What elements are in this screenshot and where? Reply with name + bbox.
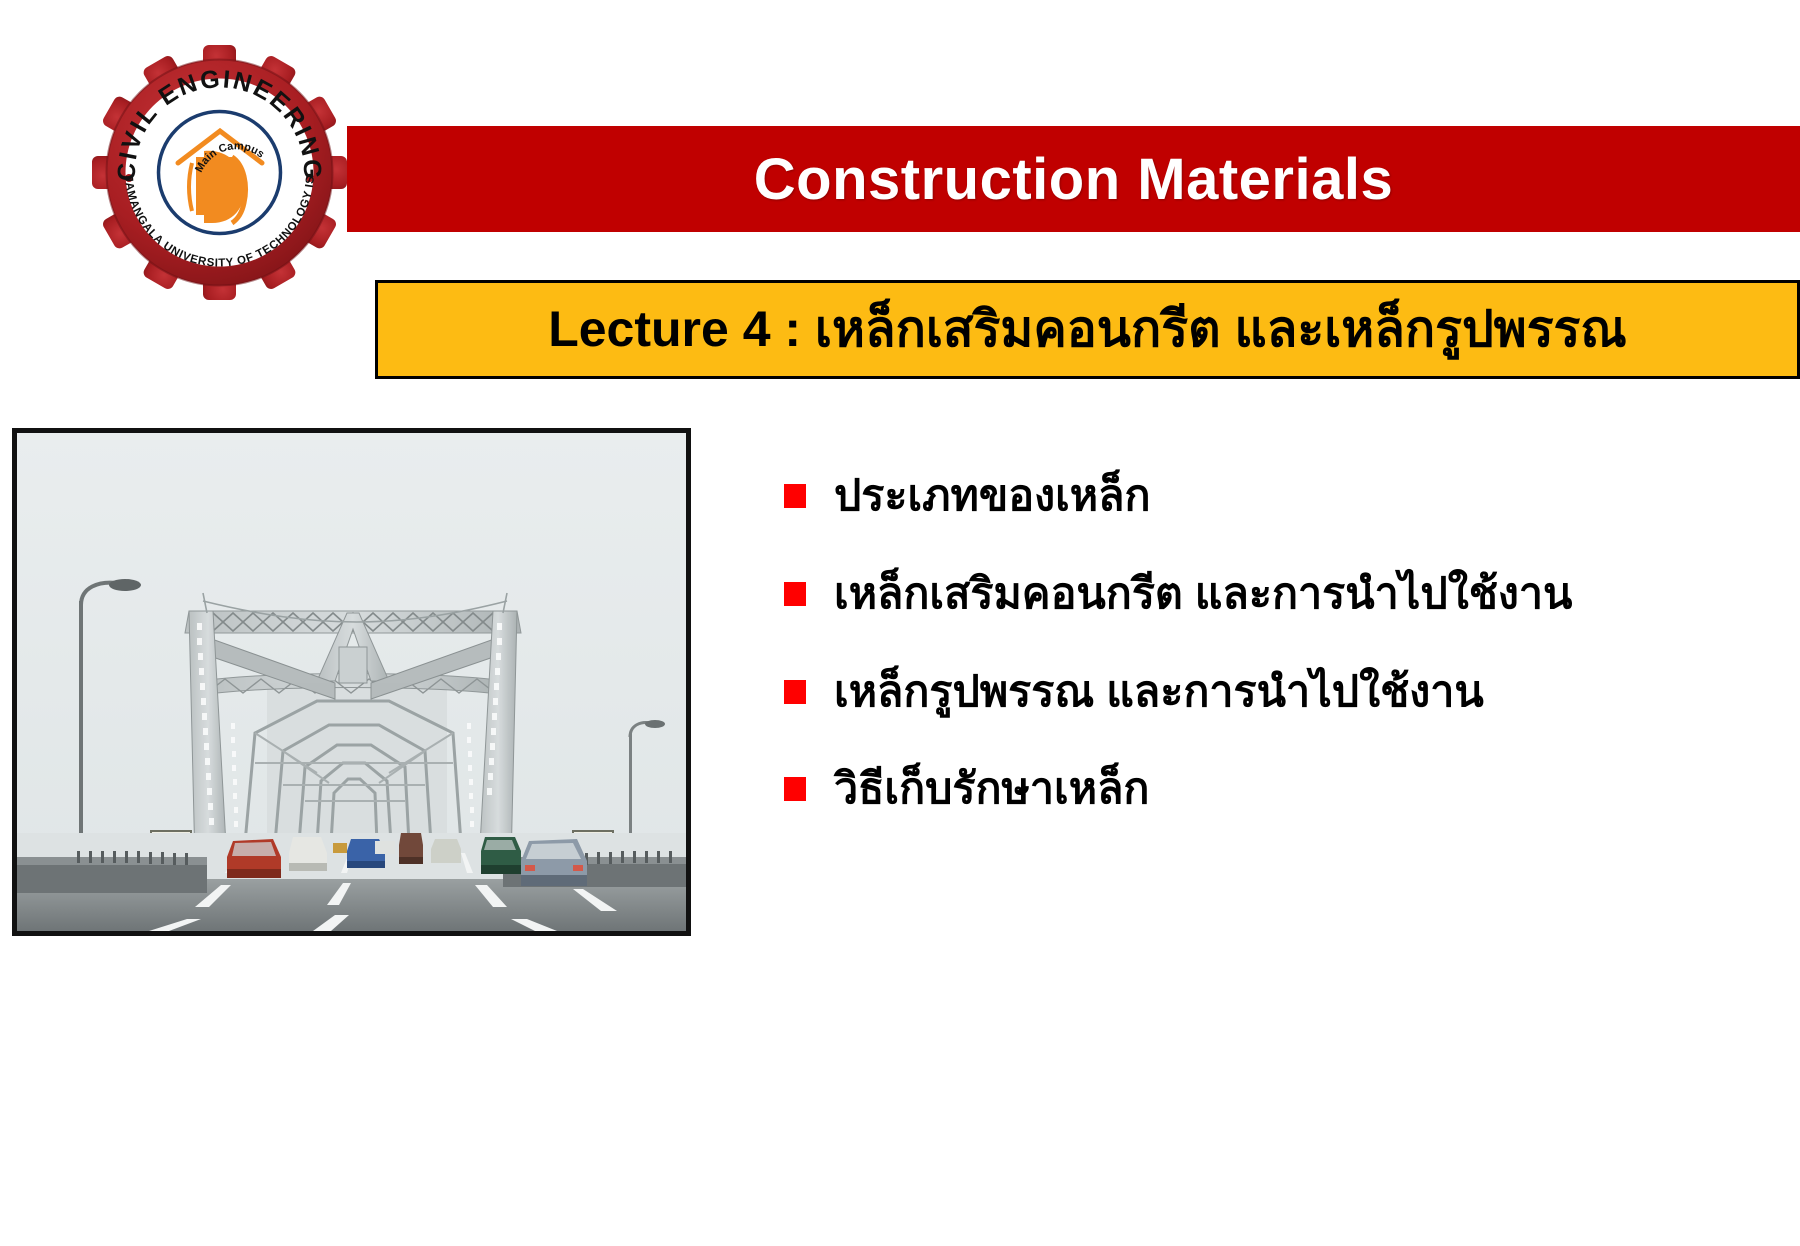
list-item: เหล็กเสริมคอนกรีต และการนำไปใช้งาน [784, 568, 1774, 622]
agenda-list: ประเภทของเหล็ก เหล็กเสริมคอนกรีต และการน… [784, 470, 1774, 817]
square-bullet-icon [784, 680, 806, 704]
bridge-photo: MAXIMUM SPEED 50 MAXIMUM SPEED 50 [12, 428, 691, 936]
university-logo: CIVIL ENGINEERING RAJAMANGALA UNIVERSITY… [92, 45, 347, 300]
list-item: วิธีเก็บรักษาเหล็ก [784, 763, 1774, 817]
page-title: Construction Materials [754, 146, 1393, 213]
lecture-subtitle-banner: Lecture 4 : เหล็กเสริมคอนกรีต และเหล็กรู… [375, 280, 1800, 379]
list-item-label: เหล็กเสริมคอนกรีต และการนำไปใช้งาน [834, 568, 1572, 622]
square-bullet-icon [784, 777, 806, 801]
presentation-slide: CIVIL ENGINEERING RAJAMANGALA UNIVERSITY… [0, 0, 1800, 1246]
square-bullet-icon [784, 484, 806, 508]
list-item: เหล็กรูปพรรณ และการนำไปใช้งาน [784, 666, 1774, 720]
list-item-label: ประเภทของเหล็ก [834, 470, 1151, 524]
list-item-label: วิธีเก็บรักษาเหล็ก [834, 763, 1149, 817]
title-banner: Construction Materials [347, 126, 1800, 232]
square-bullet-icon [784, 582, 806, 606]
list-item-label: เหล็กรูปพรรณ และการนำไปใช้งาน [834, 666, 1484, 720]
list-item: ประเภทของเหล็ก [784, 470, 1774, 524]
lecture-subtitle: Lecture 4 : เหล็กเสริมคอนกรีต และเหล็กรู… [548, 303, 1627, 356]
